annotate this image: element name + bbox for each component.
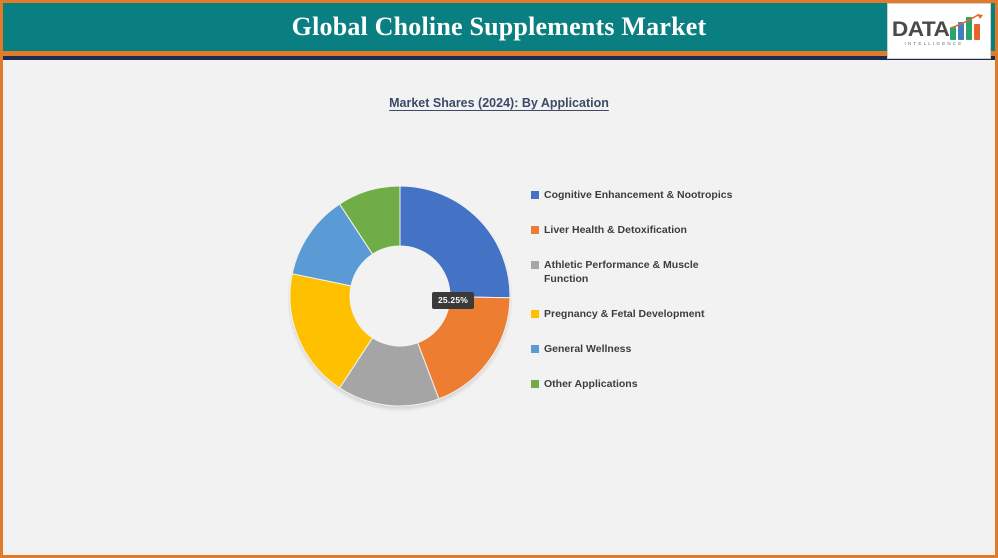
report-slide: Global Choline Supplements Market DATA I… [0, 0, 998, 558]
slice-data-label: 25.25% [432, 292, 474, 309]
legend-swatch-icon [531, 261, 539, 269]
donut-chart: 25.25% [286, 182, 514, 410]
legend-item[interactable]: Liver Health & Detoxification [531, 223, 771, 237]
legend-item-label: Liver Health & Detoxification [544, 223, 687, 237]
chart-panel: Market Shares (2024): By Application 25.… [3, 60, 995, 555]
brand-logo: DATA INTELLIGENCE [887, 3, 991, 59]
logo-tagline: INTELLIGENCE [905, 41, 964, 46]
legend-swatch-icon [531, 345, 539, 353]
legend-swatch-icon [531, 226, 539, 234]
legend-swatch-icon [531, 191, 539, 199]
legend-item-label: Cognitive Enhancement & Nootropics [544, 188, 732, 202]
legend-swatch-icon [531, 310, 539, 318]
logo-graphic: DATA [894, 16, 984, 40]
chart-title: Market Shares (2024): By Application [3, 96, 995, 110]
legend-item[interactable]: Cognitive Enhancement & Nootropics [531, 188, 771, 202]
legend-item[interactable]: Athletic Performance & Muscle Function [531, 258, 771, 286]
legend-item-label: General Wellness [544, 342, 631, 356]
logo-growth-arrow-icon [950, 14, 984, 30]
header-banner: Global Choline Supplements Market [3, 3, 995, 51]
logo-wordmark: DATA [892, 19, 949, 40]
logo-bar-chart-icon [950, 16, 984, 40]
legend-item-label: Other Applications [544, 377, 638, 391]
page-title: Global Choline Supplements Market [292, 12, 707, 42]
legend-item[interactable]: General Wellness [531, 342, 771, 356]
legend-item-label: Athletic Performance & Muscle Function [544, 258, 734, 286]
donut-chart-svg [286, 182, 514, 410]
legend-item[interactable]: Other Applications [531, 377, 771, 391]
legend-item-label: Pregnancy & Fetal Development [544, 307, 704, 321]
legend-swatch-icon [531, 380, 539, 388]
legend-item[interactable]: Pregnancy & Fetal Development [531, 307, 771, 321]
chart-legend: Cognitive Enhancement & NootropicsLiver … [531, 188, 771, 412]
